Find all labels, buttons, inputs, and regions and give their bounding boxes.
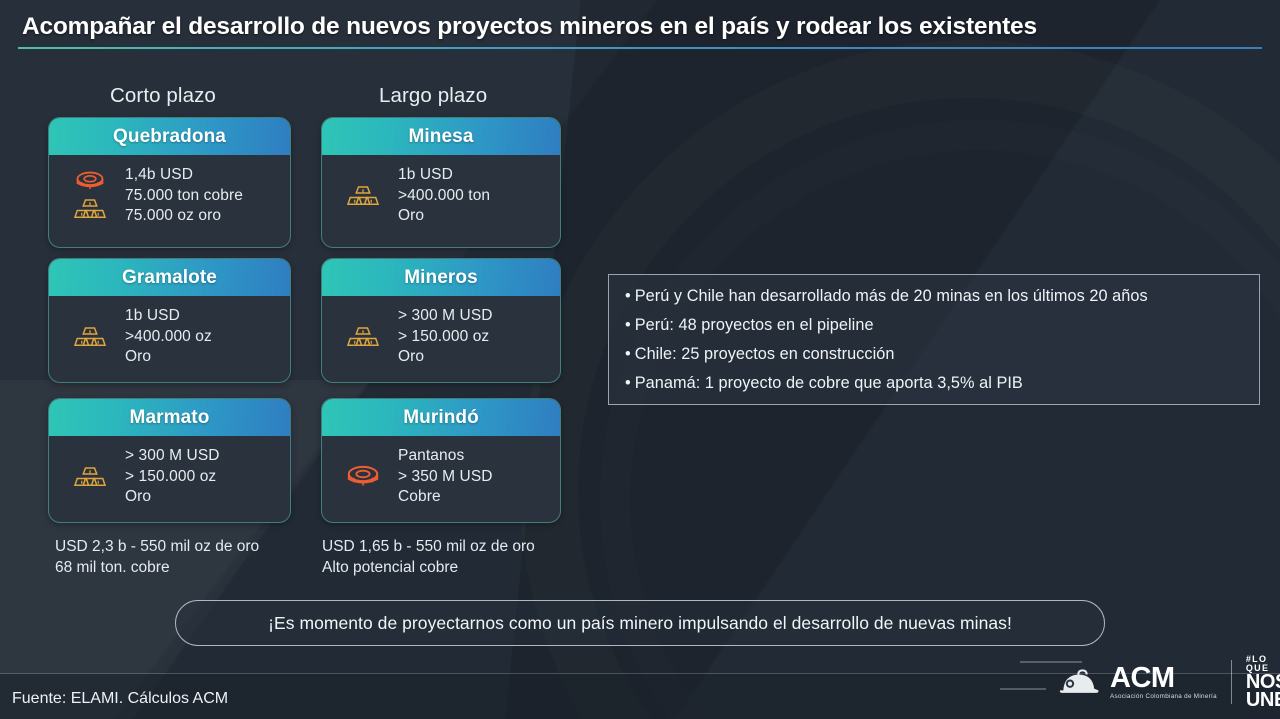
- bullet-dot-icon: •: [625, 374, 631, 392]
- card-line: >400.000 ton: [398, 186, 490, 207]
- card-body: 1,4b USD 75.000 ton cobre 75.000 oz oro: [49, 155, 290, 237]
- summary-line: USD 1,65 b - 550 mil oz de oro: [322, 536, 535, 557]
- list-item: •Perú y Chile han desarrollado más de 20…: [625, 283, 1245, 309]
- callout-text: ¡Es momento de proyectarnos como un país…: [268, 613, 1012, 634]
- callout-banner: ¡Es momento de proyectarnos como un país…: [175, 600, 1105, 646]
- card-body: Pantanos > 350 M USD Cobre: [322, 436, 560, 518]
- project-card-marmato[interactable]: Marmato > 300 M USD > 150.000 oz Oro: [48, 398, 291, 523]
- summary-line: USD 2,3 b - 550 mil oz de oro: [55, 536, 259, 557]
- card-line: > 300 M USD: [398, 306, 493, 327]
- nosune-logo: #LO QUE NOS UNE.: [1246, 655, 1280, 709]
- brand-logo-lockup: ACM Asociación Colombiana de Minería #LO…: [1055, 655, 1280, 709]
- gold-bars-icon: [74, 197, 106, 221]
- bullet-dot-icon: •: [625, 345, 631, 363]
- card-icons: [67, 465, 113, 489]
- mining-helmet-icon: [1055, 665, 1105, 699]
- list-item: •Perú: 48 proyectos en el pipeline: [625, 312, 1245, 338]
- acm-text-block: ACM Asociación Colombiana de Minería: [1110, 664, 1217, 700]
- card-lines: 1b USD >400.000 oz Oro: [125, 306, 212, 368]
- card-icons: [67, 325, 113, 349]
- title-underline: [18, 47, 1262, 49]
- card-lines: > 300 M USD > 150.000 oz Oro: [398, 306, 493, 368]
- card-lines: Pantanos > 350 M USD Cobre: [398, 446, 493, 508]
- card-line: 1,4b USD: [125, 165, 243, 186]
- card-line: Oro: [125, 347, 212, 368]
- card-body: > 300 M USD > 150.000 oz Oro: [49, 436, 290, 518]
- page-title: Acompañar el desarrollo de nuevos proyec…: [22, 13, 1037, 41]
- header: Acompañar el desarrollo de nuevos proyec…: [0, 0, 1280, 58]
- card-line: >400.000 oz: [125, 327, 212, 348]
- bullet-text: Perú y Chile han desarrollado más de 20 …: [635, 287, 1148, 305]
- nosune-line-une: UNE.: [1246, 691, 1280, 709]
- slide-canvas: Acompañar el desarrollo de nuevos proyec…: [0, 0, 1280, 719]
- summary-line: Alto potencial cobre: [322, 557, 535, 578]
- card-title: Gramalote: [122, 267, 217, 289]
- column-label-corto-plazo: Corto plazo: [110, 84, 216, 108]
- gold-bars-icon: [74, 465, 106, 489]
- card-line: > 150.000 oz: [398, 327, 493, 348]
- copper-coil-icon: [346, 464, 380, 489]
- card-icons: [340, 325, 386, 349]
- column-summary-largo-plazo: USD 1,65 b - 550 mil oz de oro Alto pote…: [322, 536, 535, 578]
- card-header: Murindó: [322, 399, 560, 436]
- logo-accent-bar: [1000, 688, 1046, 690]
- card-line: 75.000 oz oro: [125, 206, 243, 227]
- card-line: > 150.000 oz: [125, 467, 220, 488]
- project-card-quebradona[interactable]: Quebradona: [48, 117, 291, 248]
- card-title: Murindó: [403, 407, 479, 429]
- logo-divider: [1231, 660, 1232, 704]
- card-line: Pantanos: [398, 446, 493, 467]
- column-label-largo-plazo: Largo plazo: [379, 84, 487, 108]
- card-title: Minesa: [408, 126, 473, 148]
- card-line: > 350 M USD: [398, 467, 493, 488]
- facts-panel: •Perú y Chile han desarrollado más de 20…: [608, 274, 1260, 405]
- bullet-text: Perú: 48 proyectos en el pipeline: [635, 316, 874, 334]
- column-summary-corto-plazo: USD 2,3 b - 550 mil oz de oro 68 mil ton…: [55, 536, 259, 578]
- acm-tagline: Asociación Colombiana de Minería: [1110, 693, 1217, 700]
- gold-bars-icon: [347, 184, 379, 208]
- card-header: Quebradona: [49, 118, 290, 155]
- card-lines: > 300 M USD > 150.000 oz Oro: [125, 446, 220, 508]
- card-line: Oro: [398, 347, 493, 368]
- card-icons: [340, 184, 386, 208]
- card-header: Minesa: [322, 118, 560, 155]
- card-title: Quebradona: [113, 126, 226, 148]
- list-item: •Panamá: 1 proyecto de cobre que aporta …: [625, 370, 1245, 396]
- card-header: Mineros: [322, 259, 560, 296]
- project-card-gramalote[interactable]: Gramalote 1b USD >400.000 oz Oro: [48, 258, 291, 383]
- card-header: Marmato: [49, 399, 290, 436]
- summary-line: 68 mil ton. cobre: [55, 557, 259, 578]
- card-icons: [340, 464, 386, 489]
- card-line: Cobre: [398, 487, 493, 508]
- card-line: 75.000 ton cobre: [125, 186, 243, 207]
- copper-coil-icon: [75, 170, 105, 192]
- acm-logo: ACM Asociación Colombiana de Minería: [1055, 664, 1217, 700]
- gold-bars-icon: [74, 325, 106, 349]
- card-title: Mineros: [404, 267, 478, 289]
- card-line: 1b USD: [398, 165, 490, 186]
- bullet-text: Chile: 25 proyectos en construcción: [635, 345, 895, 363]
- card-body: > 300 M USD > 150.000 oz Oro: [322, 296, 560, 378]
- list-item: •Chile: 25 proyectos en construcción: [625, 341, 1245, 367]
- card-line: Oro: [125, 487, 220, 508]
- project-card-murindo[interactable]: Murindó Pantanos > 350 M USD Cobre: [321, 398, 561, 523]
- acm-wordmark: ACM: [1110, 664, 1175, 692]
- card-icons: [67, 170, 113, 221]
- project-card-mineros[interactable]: Mineros > 300 M USD > 150.000 oz Oro: [321, 258, 561, 383]
- card-lines: 1b USD >400.000 ton Oro: [398, 165, 490, 227]
- gold-bars-icon: [347, 325, 379, 349]
- card-body: 1b USD >400.000 oz Oro: [49, 296, 290, 378]
- bullet-text: Panamá: 1 proyecto de cobre que aporta 3…: [635, 374, 1023, 392]
- card-lines: 1,4b USD 75.000 ton cobre 75.000 oz oro: [125, 165, 243, 227]
- card-line: > 300 M USD: [125, 446, 220, 467]
- source-note: Fuente: ELAMI. Cálculos ACM: [12, 690, 228, 708]
- card-title: Marmato: [130, 407, 210, 429]
- card-body: 1b USD >400.000 ton Oro: [322, 155, 560, 237]
- card-header: Gramalote: [49, 259, 290, 296]
- bullet-dot-icon: •: [625, 287, 631, 305]
- card-line: Oro: [398, 206, 490, 227]
- bullet-dot-icon: •: [625, 316, 631, 334]
- card-line: 1b USD: [125, 306, 212, 327]
- project-card-minesa[interactable]: Minesa 1b USD >400.000 ton Oro: [321, 117, 561, 248]
